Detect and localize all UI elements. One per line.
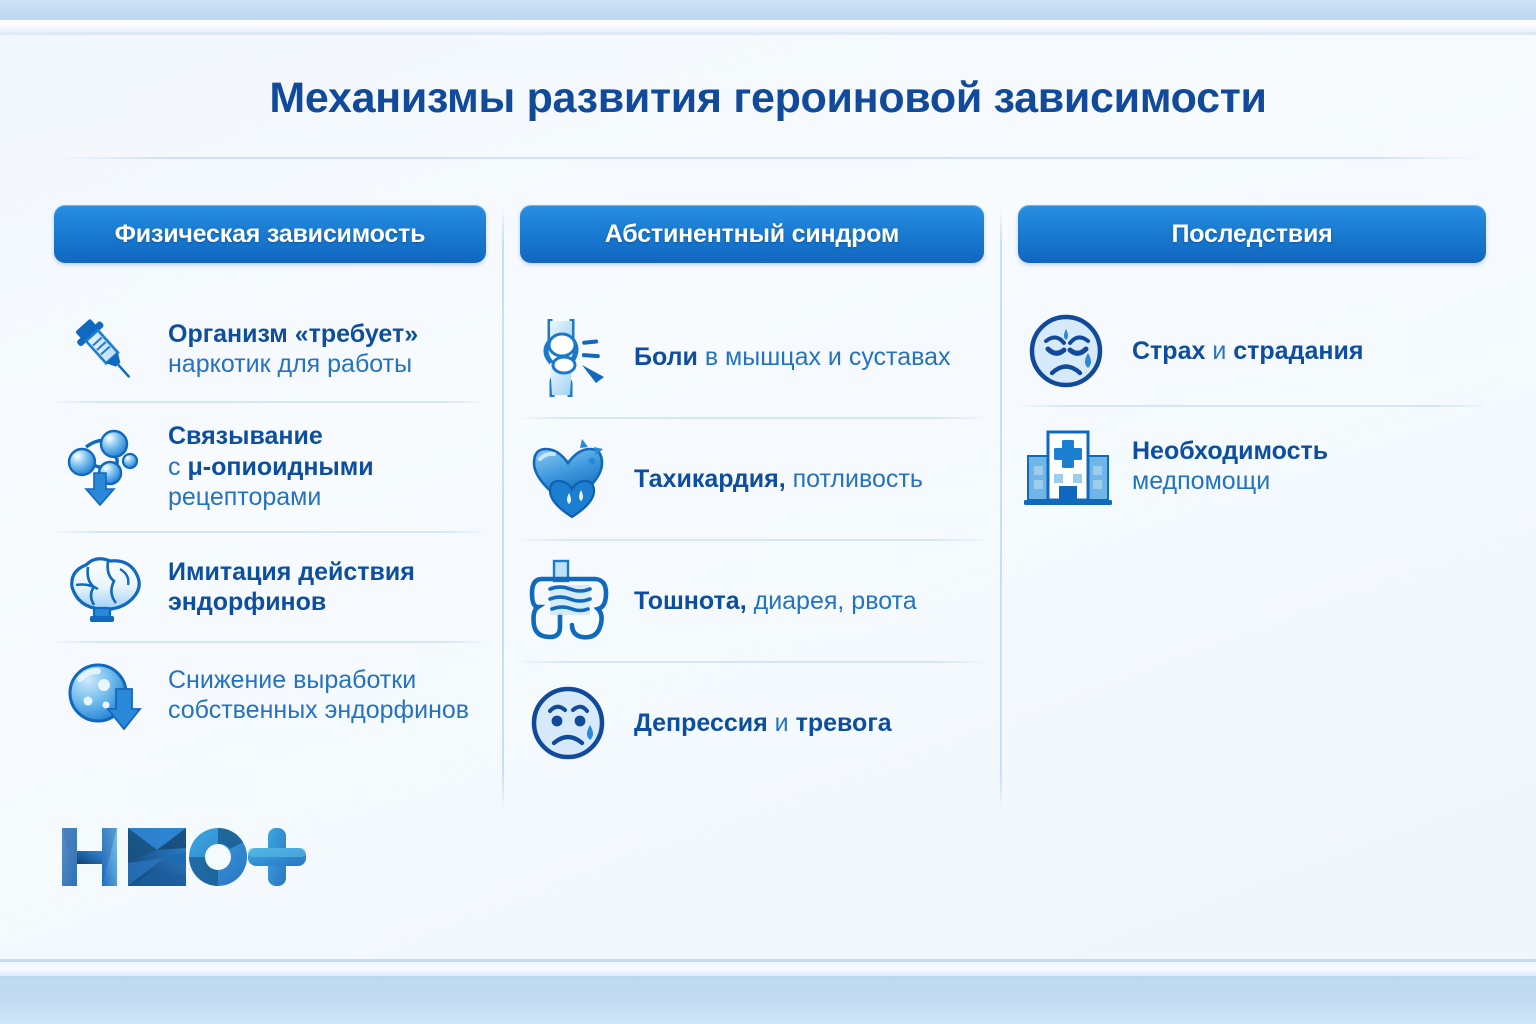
item-line-bold: Депрессия: [634, 709, 768, 737]
list-item-text: Снижение выработки собственных эндорфино…: [168, 665, 469, 726]
list-item[interactable]: Тошнота, диарея, рвота: [520, 541, 984, 661]
list-item-text: Организм «требует» наркотик для работы: [168, 319, 418, 380]
neo-plus-logo: [58, 818, 308, 896]
title-underline-rule: [52, 157, 1484, 159]
intestines-icon: [522, 553, 618, 649]
item-line-regular: потливость: [786, 465, 923, 493]
endorphin-decrease-icon: [56, 647, 152, 743]
item-line-regular: медпомощи: [1132, 467, 1270, 495]
list-item-text: Имитация действия эндорфинов: [168, 557, 415, 618]
molecule-receptor-icon: [56, 419, 152, 515]
heart-sweat-icon: [522, 431, 618, 527]
list-item-text: Боли в мышцах и суставах: [634, 342, 951, 373]
item-line-regular: собственных эндорфинов: [168, 696, 469, 724]
list-item[interactable]: Страх и страдания: [1018, 297, 1486, 405]
column-physical-dependence: Физическая зависимость: [54, 205, 486, 747]
list-item-text: Страх и страдания: [1132, 336, 1363, 367]
list-item-text: Необходимость медпомощи: [1132, 436, 1328, 497]
item-line-regular: Снижение выработки: [168, 666, 416, 694]
list-item-text: Тахикардия, потливость: [634, 464, 923, 495]
item-line-regular: и: [1205, 337, 1233, 365]
anguished-face-icon: [1020, 303, 1116, 399]
column-withdrawal-syndrome: Абстинентный синдром: [520, 205, 984, 783]
sad-face-tear-icon: [522, 675, 618, 771]
item-line-regular: наркотик для работы: [168, 350, 412, 378]
list-item[interactable]: Имитация действия эндорфинов: [54, 533, 486, 641]
list-item-text: Связывание с μ-опиоидными рецепторами: [168, 421, 374, 513]
top-hairline-band: [0, 20, 1536, 32]
column-consequences: Последствия: [1018, 205, 1486, 525]
item-line-bold: Связывание: [168, 422, 323, 450]
item-line-bold: Страх: [1132, 337, 1205, 365]
item-line-bold: тревога: [796, 709, 892, 737]
page-title: Механизмы развития героиновой зависимост…: [0, 74, 1536, 123]
list-item[interactable]: Депрессия и тревога: [520, 663, 984, 783]
list-item-text: Тошнота, диарея, рвота: [634, 586, 917, 617]
list-item[interactable]: Боли в мышцах и суставах: [520, 297, 984, 417]
syringe-icon: [56, 301, 152, 397]
list-item[interactable]: Связывание с μ-опиоидными рецепторами: [54, 403, 486, 531]
bottom-decorative-band: [0, 976, 1536, 1024]
knee-joint-pain-icon: [522, 309, 618, 405]
item-line-regular: рецепторами: [168, 483, 321, 511]
item-line-regular: с: [168, 453, 187, 481]
item-line-regular: в мышцах и суставах: [698, 343, 951, 371]
column-1-items: Организм «требует» наркотик для работы: [54, 297, 486, 747]
item-line-bold: Тошнота,: [634, 587, 747, 615]
item-line-bold: Необходимость: [1132, 437, 1328, 465]
bottom-hairline-band: [0, 962, 1536, 976]
column-divider-1: [502, 207, 504, 811]
infographic-page: Механизмы развития героиновой зависимост…: [0, 0, 1536, 1024]
item-line-bold: эндорфинов: [168, 588, 326, 616]
item-line-regular: и: [768, 709, 796, 737]
brain-icon: [56, 539, 152, 635]
item-line-bold: страдания: [1233, 337, 1363, 365]
item-line-bold: Тахикардия,: [634, 465, 786, 493]
column-header-physical-dependence[interactable]: Физическая зависимость: [54, 205, 486, 263]
top-rule: [0, 32, 1536, 35]
list-item[interactable]: Организм «требует» наркотик для работы: [54, 297, 486, 401]
top-decorative-band: [0, 0, 1536, 20]
hospital-icon: [1020, 418, 1116, 514]
item-line-bold: Боли: [634, 343, 698, 371]
item-line-bold: μ-опиоидными: [187, 453, 373, 481]
list-item[interactable]: Снижение выработки собственных эндорфино…: [54, 643, 486, 747]
column-3-items: Страх и страдания: [1018, 297, 1486, 525]
column-header-consequences[interactable]: Последствия: [1018, 205, 1486, 263]
column-2-items: Боли в мышцах и суставах: [520, 297, 984, 783]
item-line-bold: Организм «требует»: [168, 320, 418, 348]
list-item[interactable]: Необходимость медпомощи: [1018, 407, 1486, 525]
list-item-text: Депрессия и тревога: [634, 708, 892, 739]
item-line-regular: диарея, рвота: [747, 587, 917, 615]
columns-container: Физическая зависимость: [0, 205, 1536, 815]
column-header-withdrawal-syndrome[interactable]: Абстинентный синдром: [520, 205, 984, 263]
item-line-bold: Имитация действия: [168, 558, 415, 586]
column-divider-2: [1000, 207, 1002, 811]
list-item[interactable]: Тахикардия, потливость: [520, 419, 984, 539]
